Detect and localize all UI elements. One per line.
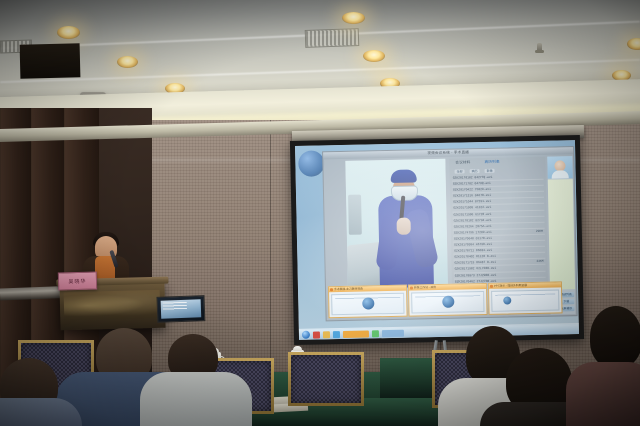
ceiling-seam-line <box>0 59 640 83</box>
name-placard: 吴晓华 <box>58 272 97 291</box>
ceiling-downlight <box>342 12 365 24</box>
filter-imaging[interactable]: 影像 <box>485 169 495 173</box>
mail-icon[interactable] <box>382 329 404 336</box>
window-preview[interactable]: PPT演示 - 微创外科新进展 <box>488 281 563 315</box>
medical-equipment <box>348 195 362 235</box>
lectern-base <box>20 43 81 78</box>
ceiling-downlight <box>363 50 385 62</box>
case-list-panel[interactable]: 会议材料 病历列表 全部 病历 影像 GZK20170102 0427TQ.av… <box>449 157 548 287</box>
globe-icon <box>442 295 454 307</box>
banquet-chair <box>288 352 364 406</box>
filter-all[interactable]: 全部 <box>455 169 465 173</box>
live-video-pane[interactable] <box>345 159 448 289</box>
globe-icon <box>503 296 511 304</box>
window-icon <box>410 287 413 290</box>
ceiling-downlight <box>117 56 138 68</box>
preview-title: 手术直播-主刀医师视角 <box>329 286 406 293</box>
folder-icon[interactable] <box>323 331 330 338</box>
media-player-icon[interactable] <box>313 331 320 338</box>
projection-screen[interactable]: 视频会议系统 - 手术直播 <box>290 135 584 345</box>
lectern-front-panel <box>64 290 161 320</box>
window-icon <box>330 288 333 291</box>
hvac-vent-icon <box>305 28 360 48</box>
avatar <box>547 156 572 179</box>
side-content-list[interactable] <box>548 179 575 289</box>
window-preview[interactable]: 影像工作站 - 病例 <box>408 283 488 317</box>
preview-body <box>331 293 404 316</box>
window-preview[interactable]: 手术直播-主刀医师视角 <box>328 285 408 319</box>
tab-meeting-materials[interactable]: 会议材料 <box>455 160 470 165</box>
surgeon-figure <box>376 169 436 288</box>
projection-surface[interactable]: 视频会议系统 - 手术直播 <box>295 140 579 340</box>
attendee-shoulders <box>0 398 82 426</box>
ceiling-downlight <box>627 38 640 50</box>
name-placard-text: 吴晓华 <box>68 277 86 284</box>
surgical-cap-icon <box>391 169 417 183</box>
surgeon-hand <box>397 218 411 235</box>
case-file-size: 29KM <box>536 229 543 234</box>
browser-icon[interactable] <box>333 331 340 338</box>
document-icon[interactable] <box>343 330 369 338</box>
laptop-screen <box>156 295 205 323</box>
attendee-head <box>590 306 640 368</box>
sprinkler-icon <box>537 43 542 52</box>
case-file-rows[interactable]: GZK20170102 0427TQ.aviGZK20171702 0473Q.… <box>452 174 546 284</box>
case-file-size: 23KM <box>536 259 543 264</box>
ceiling-downlight <box>57 26 80 39</box>
laptop-display-content <box>161 299 202 318</box>
avatar-body <box>552 170 569 178</box>
globe-icon <box>362 297 374 309</box>
chat-icon[interactable] <box>372 330 379 337</box>
window-icon <box>490 285 493 288</box>
presentation-laptop[interactable] <box>156 295 205 327</box>
preview-title: PPT演示 - 微创外科新进展 <box>489 282 561 289</box>
preview-title: 影像工作站 - 病例 <box>409 284 486 291</box>
attendee-shoulders <box>140 372 252 426</box>
tab-case-list[interactable]: 病历列表 <box>485 160 500 165</box>
start-orb-icon[interactable] <box>302 331 310 339</box>
filter-records[interactable]: 病历 <box>470 169 480 173</box>
attendee-shoulders <box>566 362 640 426</box>
preview-body <box>411 291 484 314</box>
conference-room-photo: 视频会议系统 - 手术直播 <box>0 0 640 426</box>
preview-body <box>491 289 559 311</box>
